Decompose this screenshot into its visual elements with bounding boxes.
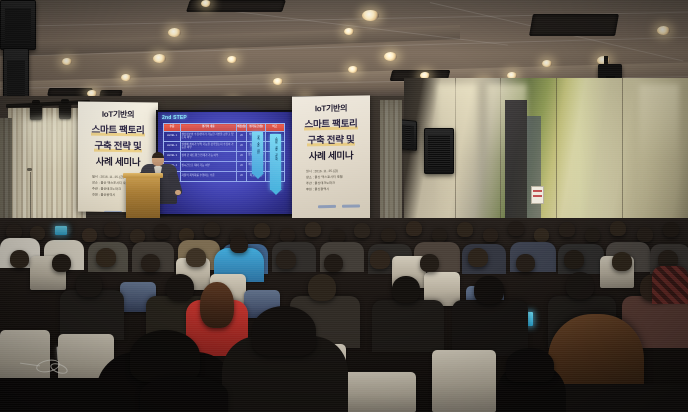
audience-head: [141, 254, 160, 272]
cell-score: 20: [236, 162, 247, 172]
arrow-right-label: 스마트 공장 고도화: [274, 137, 278, 160]
foreground-person-head: [506, 348, 554, 382]
audience-head: [130, 229, 145, 243]
audience-head: [370, 250, 390, 269]
col-header-level: 수준: [164, 124, 181, 132]
banner-line-3: 구축 전략 및: [78, 137, 158, 152]
audience-head: [406, 221, 422, 236]
mic-stand: [30, 172, 31, 220]
audience-torso: [452, 300, 528, 356]
audience-head: [82, 228, 97, 242]
audience-head: [585, 228, 600, 242]
cell-desc: 자율적 최적화를 수행하는 수준: [180, 172, 236, 182]
sponsor-logo-icon: [342, 205, 360, 208]
chair: [432, 350, 496, 412]
ceiling-downlight: [362, 10, 379, 21]
foreground-person-head: [140, 376, 228, 412]
audience-head: [280, 228, 295, 242]
foreground-shadow: [0, 378, 120, 412]
audience-head: [534, 228, 549, 242]
audience-head: [354, 223, 370, 238]
audience-plaid-shirt: [652, 266, 688, 304]
cell-desc: 실시간으로 제어 가능 여부: [180, 162, 236, 172]
audience-head: [186, 248, 206, 267]
cell-desc: 설비 간 네트워크 연계가 가능 여부: [180, 152, 236, 162]
banner-meta-sponsor: 후원 : 울산광역시: [306, 186, 370, 193]
audience-head: [564, 250, 584, 269]
cell-score: 20: [236, 152, 247, 162]
audience-head: [305, 222, 321, 237]
audience-head: [381, 228, 396, 242]
cell-level: LEVEL 2: [164, 142, 181, 152]
audience-head: [559, 222, 575, 237]
slide-table: 수준 평가의 내용 배점(점) 평가등급(점) 비고 LEVEL 1 생산정보의…: [163, 123, 285, 182]
audience-torso: [372, 300, 444, 352]
cell-level: LEVEL 3: [164, 152, 181, 162]
ceiling-downlight: [344, 28, 354, 35]
ceiling-vent: [47, 88, 93, 96]
col-header-memo: 비고: [265, 124, 284, 132]
slide-canvas: 2nd STEP 수준 평가의 내용 배점(점) 평가등급(점) 비고 LEVE…: [158, 112, 292, 214]
audience-head: [324, 254, 343, 272]
cell-score: 20: [236, 142, 247, 152]
table-row: LEVEL 1 생산정보의 수집/관리가 가능한 기반을 갖추고 있는지 여부 …: [164, 132, 285, 142]
audience-head: [420, 254, 439, 272]
foreground-person-head: [130, 330, 200, 382]
banner-logos: [292, 195, 370, 214]
audience-head: [610, 221, 626, 236]
audience-head: [432, 228, 447, 242]
right-pa-speaker: [424, 128, 454, 174]
audience-head: [10, 250, 29, 268]
ceiling-downlight: [62, 58, 72, 65]
ceiling-downlight: [153, 54, 166, 63]
table-row: LEVEL 5 자율적 최적화를 수행하는 수준 20 최고급 수준: [164, 172, 285, 182]
podium: [126, 176, 160, 220]
presenter-right-hand: [175, 190, 181, 195]
ceiling-downlight: [168, 28, 181, 37]
audience-head: [330, 229, 345, 243]
arrow-right: 스마트 공장 고도화: [270, 134, 281, 190]
left-pa-speaker: [0, 0, 36, 50]
podium-top: [123, 173, 163, 178]
audience-head: [230, 236, 248, 253]
audience-head: [457, 222, 473, 237]
cell-score: 20: [236, 132, 247, 142]
slide-table-header-row: 수준 평가의 내용 배점(점) 평가등급(점) 비고: [164, 124, 285, 132]
arrow-left: 구축 수준 진단: [252, 132, 263, 174]
ceiling-downlight: [384, 52, 397, 61]
wall-dark-recess: [527, 116, 541, 228]
audience-head: [637, 227, 653, 242]
ceiling-vent: [529, 14, 619, 36]
audience-head: [52, 254, 71, 272]
cell-desc: 설비에 센서가 부착 기능을 갖추었는지 수집이 가능한 여부: [180, 142, 236, 152]
banner-line-2: 스마트 팩토리: [78, 121, 158, 136]
audience-head: [468, 248, 488, 267]
audience-head: [516, 254, 535, 272]
wall-dark-recess: [505, 100, 527, 230]
audience-head: [392, 276, 420, 303]
audience-head: [104, 222, 120, 237]
cell-level: LEVEL 1: [164, 132, 181, 142]
mic-head: [27, 168, 32, 171]
audience-head: [276, 250, 296, 269]
audience-head: [474, 276, 504, 304]
audience-torso: [60, 290, 124, 340]
right-seminar-banner: IoT기반의 스마트 팩토리 구축 전략 및 사례 세미나 일시 : 2016.…: [292, 95, 370, 222]
wall-notice-poster: [531, 186, 544, 204]
audience-laptop-screen: [55, 226, 67, 235]
banner-line-2: 스마트 팩토리: [292, 115, 370, 130]
col-header-desc: 평가의 내용: [180, 124, 236, 132]
audience-head: [566, 272, 594, 299]
banner-line-1: IoT기반의: [78, 108, 158, 120]
ceiling-downlight: [348, 66, 358, 73]
cell-score: 20: [236, 172, 247, 182]
col-header-score: 배점(점): [236, 124, 247, 132]
ceiling-downlight: [657, 26, 670, 35]
table-row: LEVEL 4 실시간으로 제어 가능 여부 20 매우 우수한 수준: [164, 162, 285, 172]
audience-head: [308, 274, 336, 301]
audience-head: [254, 223, 270, 238]
cell-desc: 생산정보의 수집/관리가 가능한 기반을 갖추고 있는지 여부: [180, 132, 236, 142]
audience-head: [508, 221, 524, 236]
presenter-head: [152, 152, 164, 166]
chair: [340, 372, 416, 412]
wall-light-cone: [639, 84, 679, 234]
audience-long-hair-head: [200, 282, 234, 328]
audience-head: [154, 224, 170, 239]
audience-head: [483, 228, 498, 242]
banner-line-3: 구축 전략 및: [292, 131, 370, 146]
audience-head: [166, 274, 194, 301]
audience-head: [612, 252, 632, 271]
sponsor-logo-icon: [318, 205, 336, 208]
audience-head: [76, 272, 102, 297]
ceiling-downlight: [227, 56, 237, 63]
banner-line-1: IoT기반의: [292, 102, 370, 114]
projector-mount: [604, 56, 608, 66]
foreground-person-head: [252, 306, 316, 356]
banner-meta: 일시 : 2016. 11. 25.(금) 장소 : 울산 엑스포시티 호텔 주…: [292, 167, 370, 193]
audience-head: [663, 222, 679, 237]
col-header-grade: 평가등급(점): [247, 124, 265, 132]
table-row: LEVEL 2 설비에 센서가 부착 기능을 갖추었는지 수집이 가능한 여부 …: [164, 142, 285, 152]
audience-head: [204, 222, 220, 237]
arrow-left-label: 구축 수준 진단: [256, 135, 260, 153]
ceiling-downlight: [542, 60, 552, 67]
banner-line-4: 사례 세미나: [292, 147, 370, 162]
audience-head: [96, 248, 116, 267]
ceiling-downlight: [201, 0, 211, 7]
ceiling-downlight: [273, 78, 283, 85]
slide-title: 2nd STEP: [162, 115, 187, 121]
ceiling-downlight: [121, 74, 131, 81]
audience-head: [6, 224, 22, 239]
seminar-hall-photo: IoT기반의 스마트 팩토리 구축 전략 및 사례 세미나 일시 : 2016.…: [0, 0, 688, 412]
table-row: LEVEL 3 설비 간 네트워크 연계가 가능 여부 20 양호/우수한 수준: [164, 152, 285, 162]
